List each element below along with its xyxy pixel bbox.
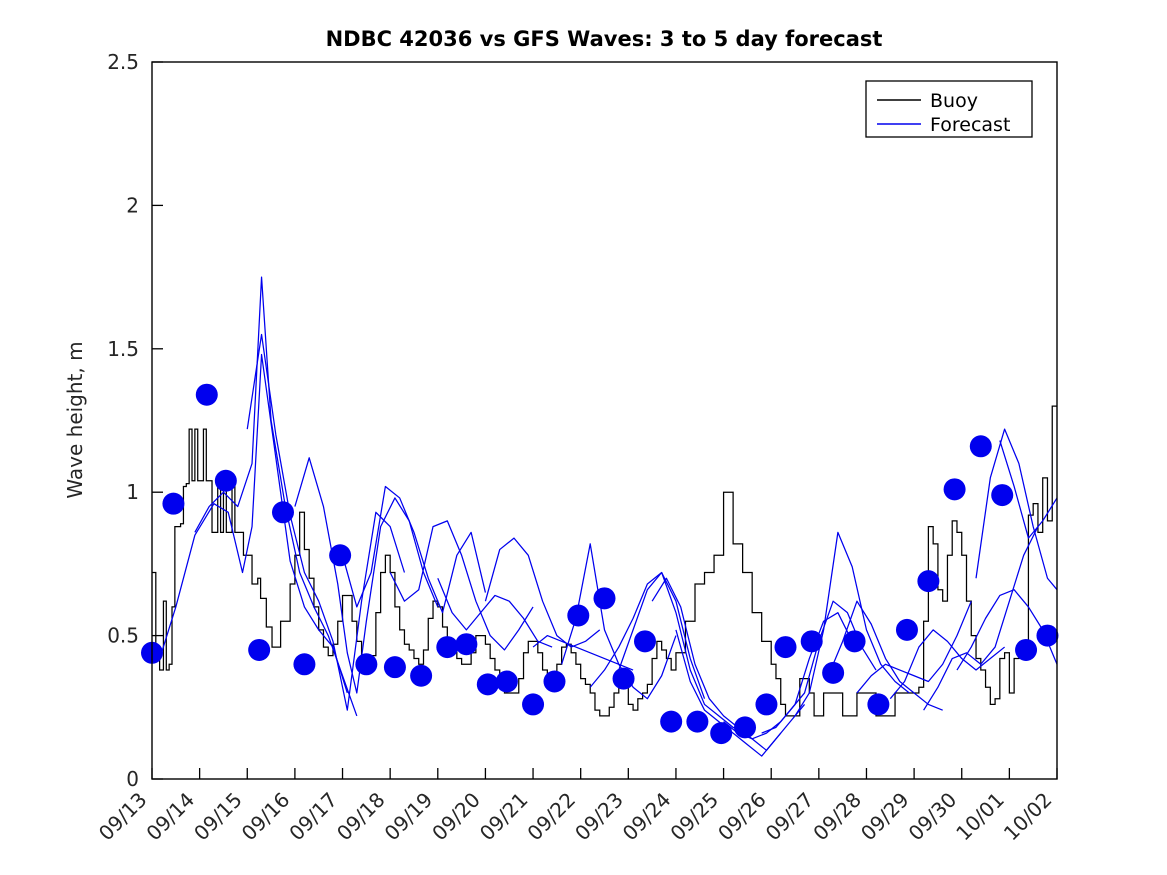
forecast-marker-point xyxy=(822,662,844,684)
y-tick-label: 1 xyxy=(126,480,139,504)
chart-title: NDBC 42036 vs GFS Waves: 3 to 5 day fore… xyxy=(326,27,883,51)
forecast-marker-point xyxy=(844,630,866,652)
legend-label-buoy: Buoy xyxy=(930,90,978,112)
forecast-marker-point xyxy=(917,570,939,592)
forecast-marker-point xyxy=(522,693,544,715)
forecast-marker-point xyxy=(755,693,777,715)
chart-legend[interactable]: Buoy Forecast xyxy=(866,81,1032,137)
forecast-marker-point xyxy=(329,544,351,566)
forecast-marker-point xyxy=(734,716,756,738)
forecast-marker-point xyxy=(1036,625,1058,647)
forecast-marker-point xyxy=(384,656,406,678)
forecast-marker-point xyxy=(543,670,565,692)
y-tick-label: 0.5 xyxy=(107,624,139,648)
forecast-marker-point xyxy=(710,722,732,744)
forecast-marker-point xyxy=(196,384,218,406)
forecast-marker-point xyxy=(970,435,992,457)
forecast-marker-point xyxy=(944,478,966,500)
forecast-marker-point xyxy=(248,639,270,661)
forecast-marker-point xyxy=(477,673,499,695)
forecast-marker-point xyxy=(896,619,918,641)
forecast-marker-point xyxy=(293,653,315,675)
forecast-marker-point xyxy=(272,501,294,523)
forecast-marker-point xyxy=(162,493,184,515)
forecast-marker-point xyxy=(867,693,889,715)
forecast-marker-point xyxy=(594,587,616,609)
forecast-marker-point xyxy=(215,470,237,492)
y-axis-label: Wave height, m xyxy=(63,341,87,498)
forecast-marker-point xyxy=(355,653,377,675)
forecast-marker-point xyxy=(455,633,477,655)
forecast-marker-point xyxy=(613,668,635,690)
forecast-marker-point xyxy=(1015,639,1037,661)
y-tick-label: 0 xyxy=(126,767,139,791)
legend-label-forecast: Forecast xyxy=(930,114,1010,136)
forecast-marker-point xyxy=(567,605,589,627)
forecast-marker-point xyxy=(634,630,656,652)
y-tick-label: 2.5 xyxy=(107,50,139,74)
forecast-marker-point xyxy=(686,711,708,733)
forecast-marker-point xyxy=(801,630,823,652)
wave-height-chart: NDBC 42036 vs GFS Waves: 3 to 5 day fore… xyxy=(0,0,1167,875)
chart-page: NDBC 42036 vs GFS Waves: 3 to 5 day fore… xyxy=(0,0,1167,875)
forecast-marker-point xyxy=(410,665,432,687)
forecast-marker-point xyxy=(775,636,797,658)
y-tick-label: 2 xyxy=(126,193,139,217)
forecast-marker-point xyxy=(991,484,1013,506)
forecast-marker-point xyxy=(436,636,458,658)
y-tick-label: 1.5 xyxy=(107,337,139,361)
forecast-marker-point xyxy=(496,670,518,692)
forecast-marker-point xyxy=(660,711,682,733)
